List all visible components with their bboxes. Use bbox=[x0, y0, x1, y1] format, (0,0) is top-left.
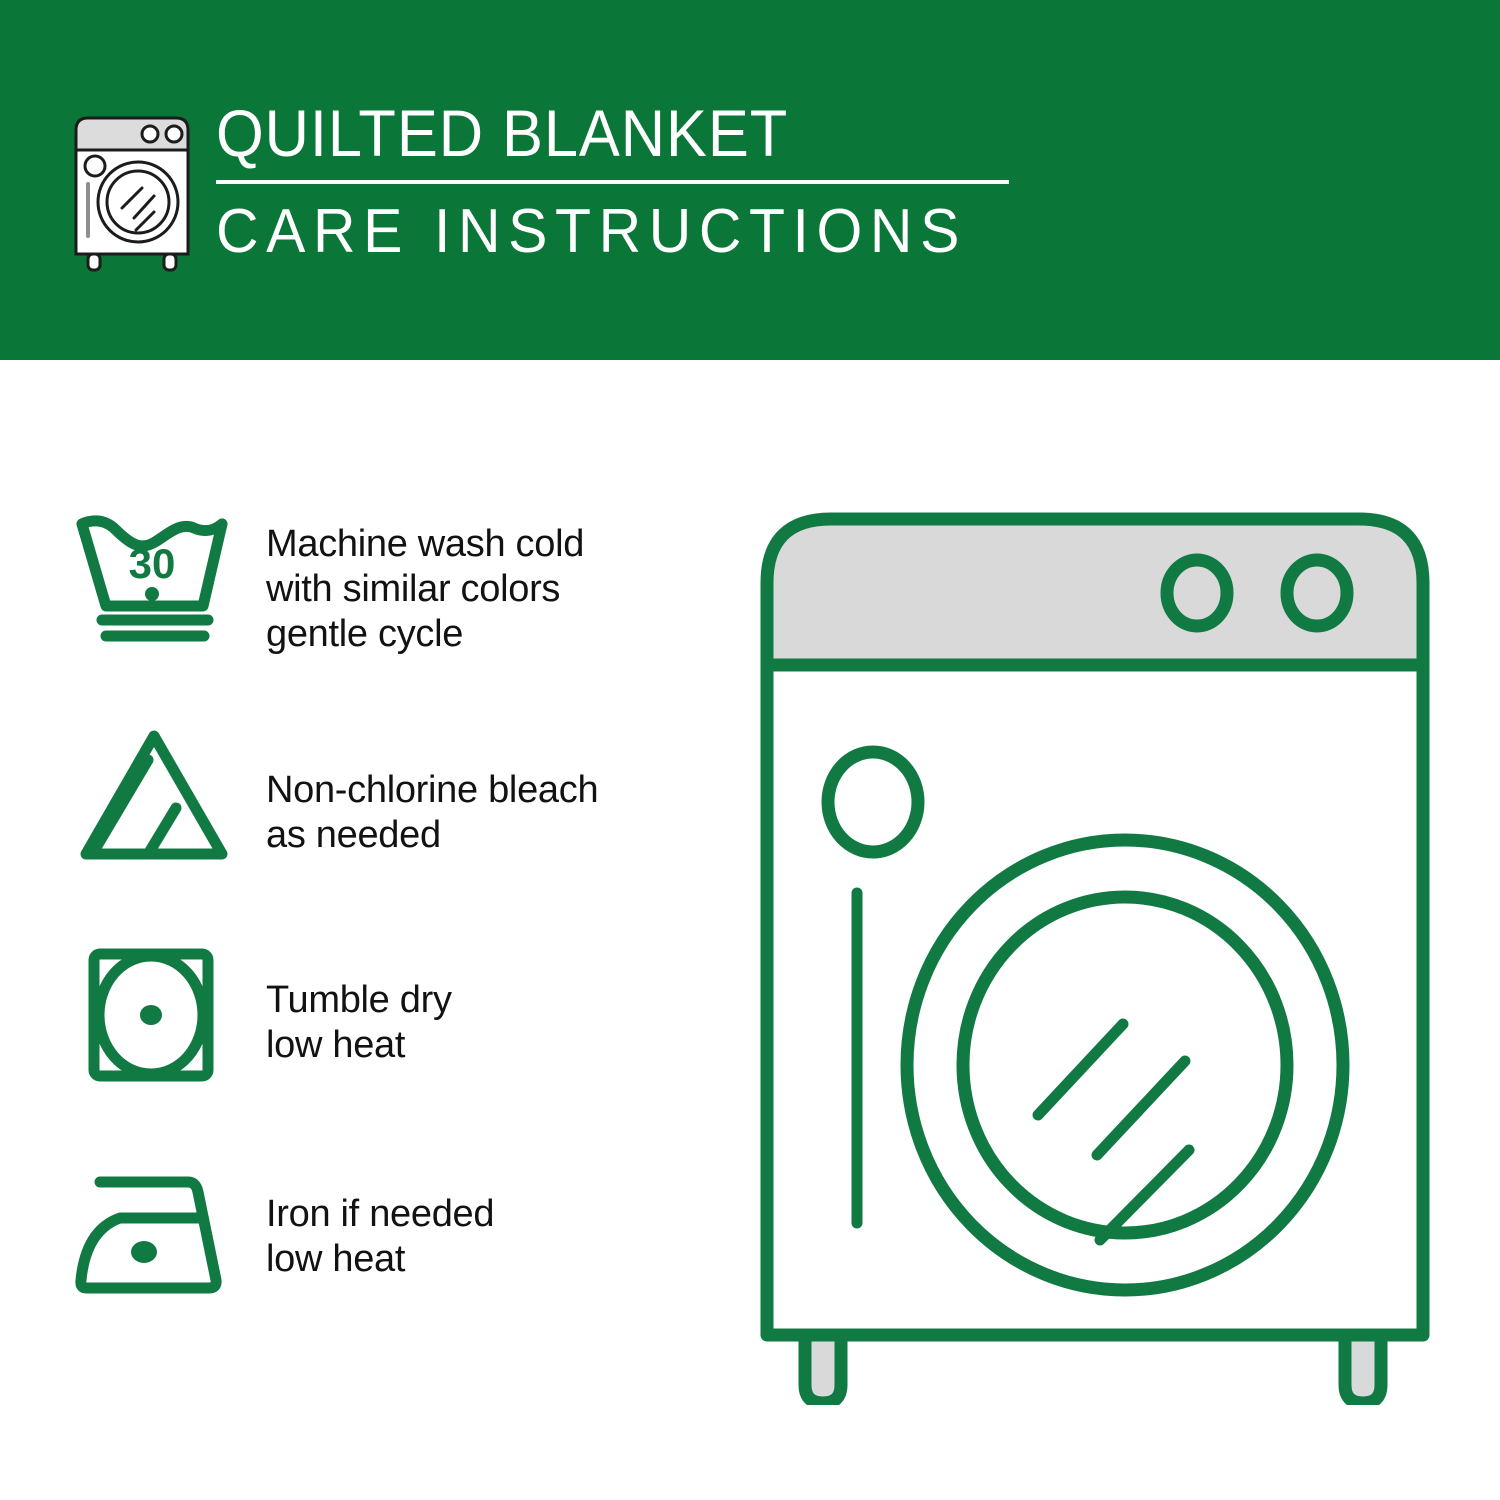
page-title: QUILTED BLANKET bbox=[216, 96, 960, 170]
care-text-line: Tumble dry bbox=[266, 978, 452, 1023]
detergent-knob bbox=[828, 752, 918, 852]
care-text-line: Iron if needed bbox=[266, 1192, 494, 1237]
wash-basin-30-icon: 30 bbox=[70, 500, 240, 650]
leg-left bbox=[805, 1335, 841, 1403]
control-dial-left bbox=[1167, 560, 1227, 626]
front-load-washing-machine-illustration bbox=[745, 505, 1445, 1405]
iron-low-heat-icon bbox=[70, 1160, 240, 1310]
washing-machine-icon bbox=[62, 104, 202, 274]
care-text-line: with similar colors bbox=[266, 567, 584, 612]
care-row-tumble-dry: Tumble dry low heat bbox=[70, 940, 710, 1160]
care-row-iron: Iron if needed low heat bbox=[70, 1160, 710, 1380]
care-instruction-list: 30 Machine wash cold with similar colors… bbox=[70, 500, 710, 1380]
header-banner: QUILTED BLANKET CARE INSTRUCTIONS bbox=[0, 0, 1500, 360]
leg-right bbox=[1345, 1335, 1381, 1403]
care-text-tumble-dry: Tumble dry low heat bbox=[266, 940, 452, 1068]
control-dial-right bbox=[1287, 560, 1347, 626]
care-text-line: gentle cycle bbox=[266, 612, 584, 657]
care-text-line: low heat bbox=[266, 1023, 452, 1068]
page-subtitle: CARE INSTRUCTIONS bbox=[216, 196, 976, 268]
care-text-bleach: Non-chlorine bleach as needed bbox=[266, 720, 598, 858]
care-text-line: as needed bbox=[266, 813, 598, 858]
care-row-bleach: Non-chlorine bleach as needed bbox=[70, 720, 710, 940]
care-row-machine-wash: 30 Machine wash cold with similar colors… bbox=[70, 500, 710, 720]
wash-temperature-label: 30 bbox=[129, 540, 176, 587]
care-text-line: low heat bbox=[266, 1237, 494, 1282]
care-text-iron: Iron if needed low heat bbox=[266, 1160, 494, 1282]
care-text-line: Machine wash cold bbox=[266, 522, 584, 567]
non-chlorine-bleach-triangle-icon bbox=[70, 720, 240, 870]
title-divider bbox=[216, 180, 1009, 184]
care-text-machine-wash: Machine wash cold with similar colors ge… bbox=[266, 500, 584, 657]
tumble-dry-low-icon bbox=[70, 940, 240, 1090]
care-text-line: Non-chlorine bleach bbox=[266, 768, 598, 813]
header-title-group: QUILTED BLANKET CARE INSTRUCTIONS bbox=[216, 96, 1016, 268]
